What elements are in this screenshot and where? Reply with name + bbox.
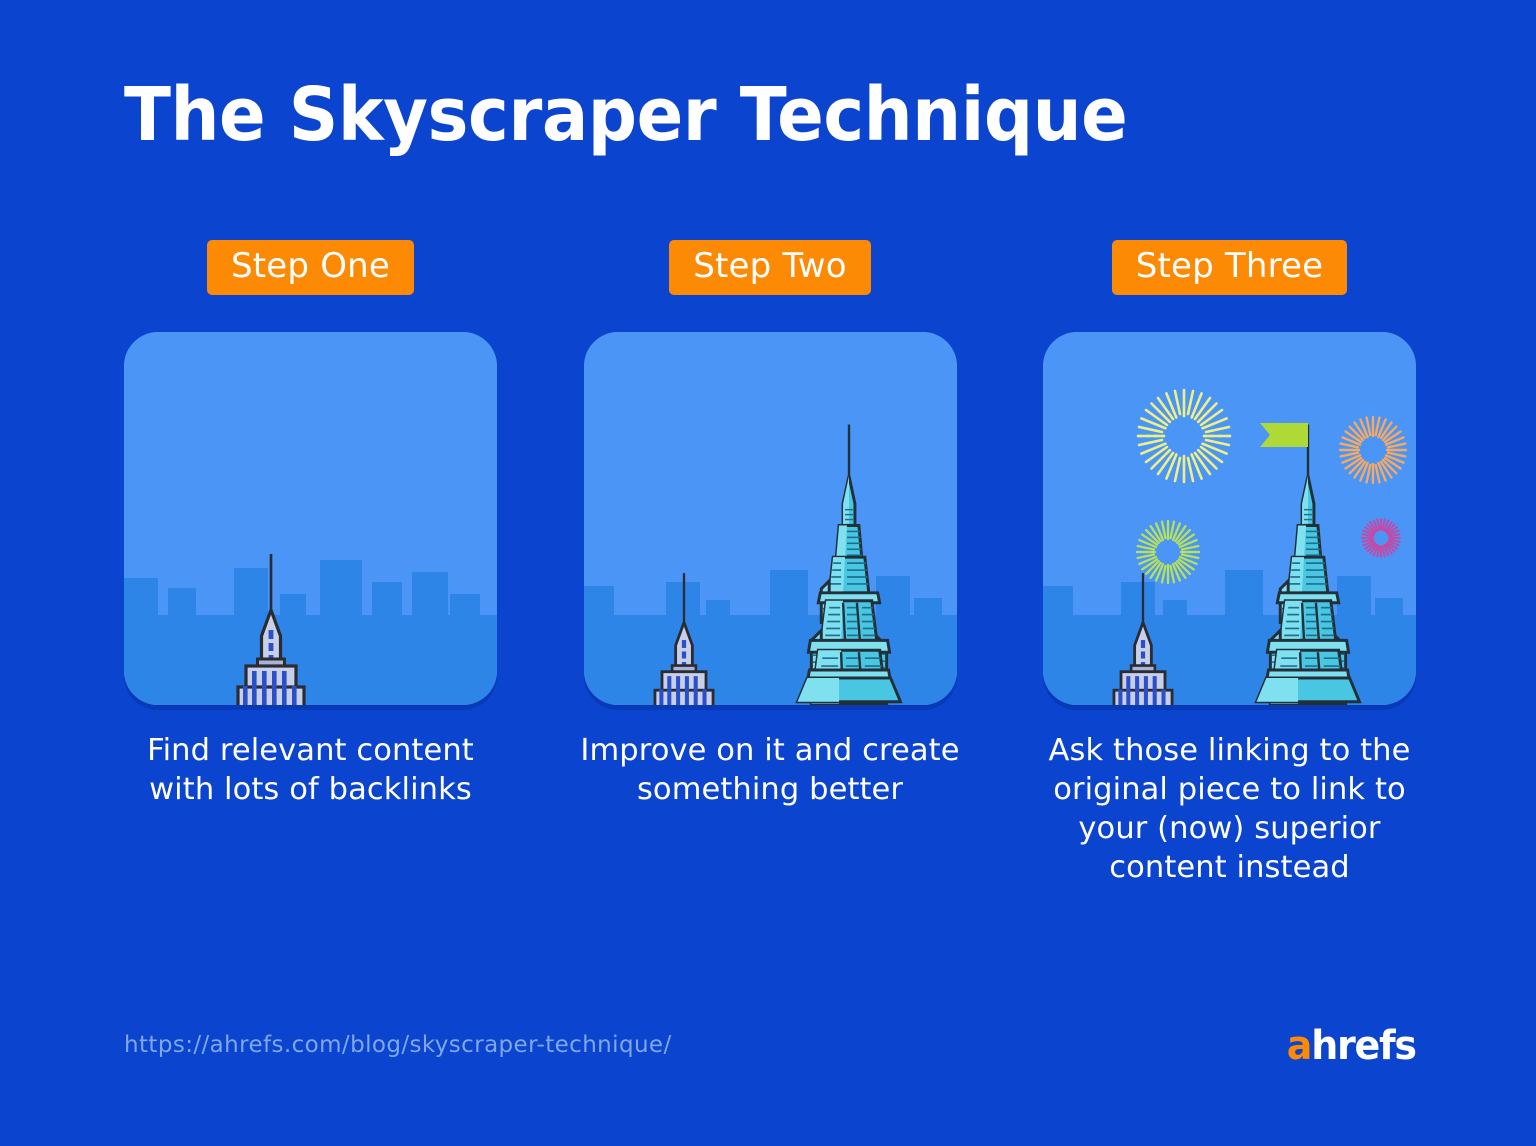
ahrefs-logo[interactable]: ahrefs xyxy=(1287,1026,1416,1066)
step-illustration-three xyxy=(1043,332,1416,705)
step-badge-one: Step One xyxy=(207,240,414,295)
step-caption-one: Find relevant content with lots of backl… xyxy=(121,731,501,809)
step-badge-three: Step Three xyxy=(1112,240,1348,295)
step-illustration-two xyxy=(584,332,957,705)
caption-line: original piece to link to xyxy=(1040,770,1420,809)
step-column-two: Step Two xyxy=(584,240,957,887)
step-column-one: Step One xyxy=(124,240,497,887)
logo-wordmark: hrefs xyxy=(1311,1023,1416,1069)
steps-row: Step One xyxy=(124,240,1416,887)
caption-line: content instead xyxy=(1040,848,1420,887)
logo-accent-letter: a xyxy=(1287,1023,1311,1069)
step-caption-three: Ask those linking to the original piece … xyxy=(1040,731,1420,887)
caption-line: Improve on it and create xyxy=(580,731,960,770)
step-illustration-one xyxy=(124,332,497,705)
step-column-three: Step Three xyxy=(1043,240,1416,887)
caption-line: Ask those linking to the xyxy=(1040,731,1420,770)
caption-line: something better xyxy=(580,770,960,809)
step-badge-two: Step Two xyxy=(669,240,871,295)
page-title: The Skyscraper Technique xyxy=(124,78,1127,152)
caption-line: Find relevant content xyxy=(121,731,501,770)
step-caption-two: Improve on it and create something bette… xyxy=(580,731,960,809)
caption-line: your (now) superior xyxy=(1040,809,1420,848)
source-url[interactable]: https://ahrefs.com/blog/skyscraper-techn… xyxy=(124,1032,672,1058)
caption-line: with lots of backlinks xyxy=(121,770,501,809)
